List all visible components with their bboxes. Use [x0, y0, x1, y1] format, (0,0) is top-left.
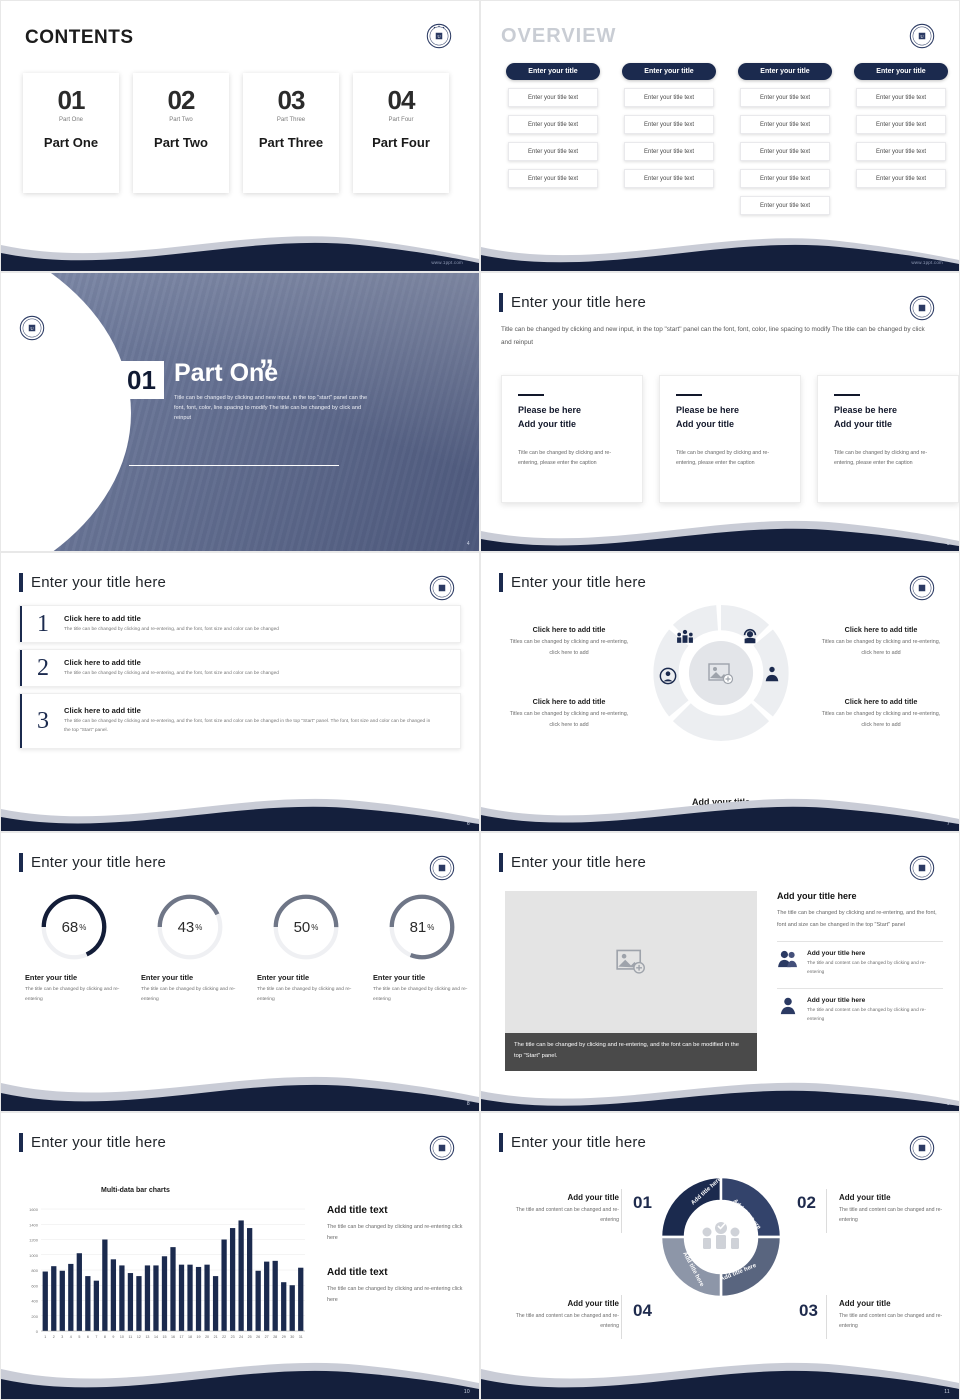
image-placeholder-icon	[616, 949, 646, 975]
page-number: 7	[947, 821, 950, 827]
contents-card[interactable]: 01 Part One Part One	[23, 73, 119, 193]
row-number: 3	[22, 708, 64, 735]
card-number: 03	[278, 85, 305, 116]
university-emblem-icon	[909, 575, 935, 601]
svg-text:1400: 1400	[29, 1222, 39, 1227]
card-title: Part Three	[259, 135, 323, 150]
step-number-01: 01	[633, 1193, 652, 1213]
svg-text:800: 800	[31, 1268, 38, 1273]
step-heading: Add your title	[839, 1193, 955, 1202]
contents-card[interactable]: 02 Part Two Part Two	[133, 73, 229, 193]
donut-body: The title can be changed by clicking and…	[373, 985, 471, 1004]
card-number: 01	[58, 85, 85, 116]
footer-wave-decoration	[481, 785, 959, 831]
page-number: 10	[464, 1389, 470, 1395]
svg-text:22: 22	[222, 1335, 226, 1339]
item-body: The title and content can be changed by …	[807, 1006, 943, 1025]
svg-text:26: 26	[256, 1335, 260, 1339]
title-text: Enter your title here	[31, 854, 166, 871]
overview-item[interactable]: Enter your title text	[508, 142, 598, 161]
footer-url: www.1ppt.com	[431, 260, 463, 265]
note-heading: Add title text	[327, 1205, 467, 1216]
title-accent-bar	[499, 573, 503, 592]
donut-body: The title can be changed by clicking and…	[25, 985, 123, 1004]
step-heading: Add your title	[503, 1193, 619, 1202]
svg-text:25: 25	[248, 1335, 252, 1339]
support-person-icon	[763, 665, 781, 688]
svg-text:19: 19	[197, 1335, 201, 1339]
column-header-pill[interactable]: Enter your title	[506, 63, 600, 80]
step-text: Add your title The title and content can…	[503, 1193, 619, 1225]
divider	[826, 1189, 827, 1233]
svg-text:21: 21	[214, 1335, 218, 1339]
page-title: Enter your title here	[499, 853, 646, 872]
row-heading: Click here to add title	[64, 658, 434, 667]
donut-stat[interactable]: 50% Enter your title The title can be ch…	[257, 891, 355, 1004]
page-number: 6	[467, 821, 470, 827]
overview-item[interactable]: Enter your title text	[856, 142, 946, 161]
section-number: 01	[119, 361, 164, 399]
label-body: Titles can be changed by clicking and re…	[817, 637, 945, 658]
card-heading-line2: Add your title	[676, 419, 734, 429]
step-body: The title and content can be changed and…	[503, 1311, 619, 1331]
label-body: Titles can be changed by clicking and re…	[817, 709, 945, 730]
svg-text:600: 600	[31, 1283, 38, 1288]
group-people-icon	[675, 629, 695, 650]
svg-text:7: 7	[95, 1335, 97, 1339]
column-header-pill[interactable]: Enter your title	[622, 63, 716, 80]
note-body: The title can be changed by clicking and…	[327, 1284, 467, 1307]
overview-item[interactable]: Enter your title text	[856, 115, 946, 134]
university-emblem-icon: U	[909, 23, 935, 49]
svg-text:29: 29	[282, 1335, 286, 1339]
card-body: Title can be changed by clicking and re-…	[676, 448, 784, 469]
svg-text:11: 11	[129, 1335, 133, 1339]
card-body: Title can be changed by clicking and re-…	[518, 448, 626, 469]
svg-text:28: 28	[273, 1335, 277, 1339]
title-text: Enter your title here	[31, 1134, 166, 1151]
donut-body: The title can be changed by clicking and…	[141, 985, 239, 1004]
person-icon	[777, 997, 799, 1025]
title-accent-bar	[19, 573, 23, 592]
overview-item[interactable]: Enter your title text	[740, 169, 830, 188]
svg-text:6: 6	[87, 1335, 89, 1339]
row-number: 1	[22, 611, 64, 638]
chart-title: Multi-data bar charts	[101, 1187, 170, 1194]
user-circle-icon	[659, 667, 677, 690]
contents-card[interactable]: 03 Part Three Part Three	[243, 73, 339, 193]
svg-text:15: 15	[162, 1335, 166, 1339]
quote-mark-icon: ”	[259, 359, 274, 383]
label-heading: Click here to add title	[817, 697, 945, 706]
progress-ring: 68%	[38, 891, 110, 963]
card-body: Title can be changed by clicking and re-…	[834, 448, 942, 469]
card-number: 02	[168, 85, 195, 116]
image-caption: The title can be changed by clicking and…	[505, 1033, 757, 1071]
progress-ring: 43%	[154, 891, 226, 963]
svg-text:1200: 1200	[29, 1238, 39, 1243]
list-item[interactable]: Add your title here The title and conten…	[777, 950, 943, 978]
users-icon	[777, 950, 799, 978]
overview-item[interactable]: Enter your title text	[624, 169, 714, 188]
svg-text:10: 10	[120, 1335, 124, 1339]
card-subtitle: Part Four	[388, 117, 413, 123]
step-text: Add your title The title and content can…	[839, 1193, 955, 1225]
row-number: 2	[22, 655, 64, 682]
card-heading-line1: Please be here	[834, 405, 897, 415]
overview-item[interactable]: Enter your title text	[508, 115, 598, 134]
donut-heading: Enter your title	[25, 973, 123, 982]
overview-column: Enter your title Enter your title text E…	[505, 63, 601, 215]
overview-column: Enter your title Enter your title text E…	[621, 63, 717, 215]
step-number-04: 04	[633, 1301, 652, 1321]
bar-chart: 0200400600800100012001400160012345678910…	[15, 1201, 311, 1347]
page-title: Enter your title here	[19, 853, 166, 872]
footer-wave-decoration	[1, 785, 479, 831]
step-text: Add your title The title and content can…	[503, 1299, 619, 1331]
university-emblem-icon	[429, 1135, 455, 1161]
step-heading: Add your title	[503, 1299, 619, 1308]
divider	[777, 988, 943, 989]
page-number: 5	[947, 541, 950, 547]
divider	[777, 941, 943, 942]
progress-ring: 50%	[270, 891, 342, 963]
contents-card[interactable]: 04 Part Four Part Four	[353, 73, 449, 193]
svg-text:17: 17	[180, 1335, 184, 1339]
overview-item[interactable]: Enter your title text	[856, 169, 946, 188]
segmented-ring-diagram: Add your title	[653, 605, 789, 741]
slide-2-overview[interactable]: OVERVIEW U Enter your title Enter your t…	[480, 0, 960, 272]
item-heading: Add your title here	[807, 997, 943, 1004]
slide-1-contents[interactable]: CONTENTS U 01 Part One Part One 02 Part …	[0, 0, 480, 272]
svg-text:18: 18	[188, 1335, 192, 1339]
divider	[621, 1189, 622, 1233]
page-title: Enter your title here	[499, 1133, 646, 1152]
panel-body: The title can be changed by clicking and…	[777, 908, 943, 931]
overview-item[interactable]: Enter your title text	[740, 196, 830, 215]
slide-thumbnail-grid: CONTENTS U 01 Part One Part One 02 Part …	[0, 0, 960, 1400]
svg-text:24: 24	[239, 1335, 243, 1339]
donut-stat[interactable]: 43% Enter your title The title can be ch…	[141, 891, 239, 1004]
list-item[interactable]: Add your title here The title and conten…	[777, 997, 943, 1025]
svg-text:2: 2	[53, 1335, 55, 1339]
card-dash-decoration	[676, 394, 702, 396]
donut-heading: Enter your title	[141, 973, 239, 982]
column-header-pill[interactable]: Enter your title	[854, 63, 948, 80]
diagram-label: Click here to add title Titles can be ch…	[817, 625, 945, 658]
overview-columns: Enter your title Enter your title text E…	[505, 63, 949, 215]
svg-text:5: 5	[78, 1335, 80, 1339]
step-number-03: 03	[799, 1301, 818, 1321]
step-body: The title and content can be changed and…	[839, 1311, 955, 1331]
page-title: OVERVIEW	[501, 25, 616, 48]
hero-divider	[129, 465, 339, 466]
page-title: Enter your title here	[499, 573, 646, 592]
overview-item[interactable]: Enter your title text	[508, 169, 598, 188]
card-subtitle: Part Two	[169, 117, 193, 123]
title-accent-bar	[19, 853, 23, 872]
step-number-02: 02	[797, 1193, 816, 1213]
panel-heading: Add your title here	[777, 891, 943, 901]
list-item[interactable]: 2 Click here to add title The title can …	[19, 649, 461, 687]
footer-wave-decoration	[481, 1353, 959, 1399]
footer-wave-decoration	[1, 1065, 479, 1111]
label-heading: Click here to add title	[505, 625, 633, 634]
list-item[interactable]: 1 Click here to add title The title can …	[19, 605, 461, 643]
item-body: The title and content can be changed by …	[807, 959, 943, 978]
note-body: The title can be changed by clicking and…	[327, 1222, 467, 1245]
card-heading-line1: Please be here	[676, 405, 739, 415]
donut-stat[interactable]: 68% Enter your title The title can be ch…	[25, 891, 123, 1004]
divider	[621, 1295, 622, 1339]
university-emblem-icon	[429, 575, 455, 601]
diagram-label: Click here to add title Titles can be ch…	[505, 625, 633, 658]
info-card[interactable]: Please be hereAdd your title Title can b…	[817, 375, 959, 503]
university-emblem-icon: U	[426, 23, 452, 49]
university-emblem-icon: U	[19, 315, 45, 341]
card-heading-line2: Add your title	[834, 419, 892, 429]
svg-text:30: 30	[290, 1335, 294, 1339]
overview-column: Enter your title Enter your title text E…	[853, 63, 949, 215]
card-subtitle: Part Three	[277, 117, 305, 123]
donut-heading: Enter your title	[257, 973, 355, 982]
page-title: Enter your title here	[19, 573, 166, 592]
four-step-cycle: Add title here Add title here Add title …	[649, 1161, 793, 1313]
svg-text:12: 12	[137, 1335, 141, 1339]
svg-text:4: 4	[70, 1335, 72, 1339]
svg-text:16: 16	[171, 1335, 175, 1339]
card-subtitle: Part One	[59, 117, 83, 123]
diagram-caption: Add your title	[653, 797, 789, 807]
university-emblem-icon	[909, 1135, 935, 1161]
donut-stat[interactable]: 81% Enter your title The title can be ch…	[373, 891, 471, 1004]
slide-6-circular-diagram[interactable]: Enter your title here	[480, 552, 960, 832]
chart-notes: Add title text The title can be changed …	[327, 1205, 467, 1306]
donut-value: 50%	[270, 891, 342, 963]
page-title: Enter your title here	[19, 1133, 166, 1152]
donut-body: The title can be changed by clicking and…	[257, 985, 355, 1004]
contents-card-list: 01 Part One Part One 02 Part Two Part Tw…	[23, 73, 449, 193]
title-accent-bar	[499, 293, 503, 312]
page-number: 8	[467, 1101, 470, 1107]
card-list: Please be hereAdd your title Title can b…	[501, 375, 959, 503]
slide-8-image-and-list[interactable]: Enter your title here The title can be c…	[480, 832, 960, 1112]
card-heading-line2: Add your title	[518, 419, 576, 429]
overview-item[interactable]: Enter your title text	[740, 115, 830, 134]
overview-item[interactable]: Enter your title text	[856, 88, 946, 107]
label-body: Titles can be changed by clicking and re…	[505, 709, 633, 730]
row-heading: Click here to add title	[64, 614, 434, 623]
svg-text:1: 1	[44, 1335, 46, 1339]
row-heading: Click here to add title	[64, 706, 434, 715]
slide-7-percentage-donuts[interactable]: Enter your title here 68% Enter your tit…	[0, 832, 480, 1112]
hero-content: 01 Part One Title can be changed by clic…	[119, 361, 379, 423]
card-title: Part Four	[372, 135, 430, 150]
slide-10-cycle-diagram[interactable]: Enter your title here Add	[480, 1112, 960, 1400]
row-body: The title can be changed by clicking and…	[64, 670, 434, 679]
note-heading: Add title text	[327, 1267, 467, 1278]
slide-5-numbered-list[interactable]: Enter your title here 1 Click here to ad…	[0, 552, 480, 832]
image-placeholder[interactable]	[505, 891, 757, 1033]
title-text: Enter your title here	[511, 1134, 646, 1151]
item-heading: Add your title here	[807, 950, 943, 957]
step-heading: Add your title	[839, 1299, 955, 1308]
row-body: The title can be changed by clicking and…	[64, 626, 434, 635]
title-accent-bar	[19, 1133, 23, 1152]
overview-item[interactable]: Enter your title text	[508, 88, 598, 107]
footer-wave-decoration	[481, 1065, 959, 1111]
section-description: Title can be changed by clicking and new…	[174, 393, 379, 423]
svg-text:200: 200	[31, 1314, 38, 1319]
note-block: Add title text The title can be changed …	[327, 1205, 467, 1245]
diagram-label: Click here to add title Titles can be ch…	[505, 697, 633, 730]
title-text: Enter your title here	[511, 294, 646, 311]
card-title: Part One	[44, 135, 98, 150]
university-emblem-icon	[909, 855, 935, 881]
overview-item[interactable]: Enter your title text	[624, 88, 714, 107]
intro-paragraph: Title can be changed by clicking and new…	[501, 323, 931, 350]
image-placeholder-icon	[708, 663, 734, 690]
step-body: The title and content can be changed and…	[503, 1205, 619, 1225]
footer-wave-decoration	[481, 505, 959, 551]
slide-4-three-cards[interactable]: Enter your title here Title can be chang…	[480, 272, 960, 552]
note-block: Add title text The title can be changed …	[327, 1267, 467, 1307]
page-number: 11	[944, 1389, 950, 1395]
section-title: Part One	[174, 361, 379, 386]
overview-item[interactable]: Enter your title text	[740, 88, 830, 107]
university-emblem-icon	[429, 855, 455, 881]
footer-wave-decoration	[481, 225, 959, 271]
footer-wave-decoration	[1, 1353, 479, 1399]
row-body: The title can be changed by clicking and…	[64, 718, 434, 735]
page-number: 9	[947, 1101, 950, 1107]
info-card[interactable]: Please be hereAdd your title Title can b…	[501, 375, 643, 503]
diagram-label: Click here to add title Titles can be ch…	[817, 697, 945, 730]
card-dash-decoration	[834, 394, 860, 396]
slide-9-bar-chart[interactable]: Enter your title here Multi-data bar cha…	[0, 1112, 480, 1400]
step-body: The title and content can be changed and…	[839, 1205, 955, 1225]
progress-ring: 81%	[386, 891, 458, 963]
card-dash-decoration	[518, 394, 544, 396]
title-accent-bar	[499, 1133, 503, 1152]
donut-value: 81%	[386, 891, 458, 963]
page-number: 4	[467, 541, 470, 547]
overview-item[interactable]: Enter your title text	[624, 142, 714, 161]
info-card[interactable]: Please be hereAdd your title Title can b…	[659, 375, 801, 503]
svg-text:1600: 1600	[29, 1207, 39, 1212]
title-text: Enter your title here	[31, 574, 166, 591]
overview-column: Enter your title Enter your title text E…	[737, 63, 833, 215]
svg-text:14: 14	[154, 1335, 158, 1339]
svg-text:400: 400	[31, 1299, 38, 1304]
detail-panel: Add your title here The title can be cha…	[777, 891, 943, 1033]
svg-text:1000: 1000	[29, 1253, 39, 1258]
donut-stat-list: 68% Enter your title The title can be ch…	[25, 891, 471, 1004]
page-title: CONTENTS	[25, 27, 134, 49]
svg-text:8: 8	[104, 1335, 106, 1339]
svg-text:20: 20	[205, 1335, 209, 1339]
donut-value: 43%	[154, 891, 226, 963]
overview-item[interactable]: Enter your title text	[624, 115, 714, 134]
label-heading: Click here to add title	[817, 625, 945, 634]
footer-wave-decoration	[1, 225, 479, 271]
svg-text:31: 31	[299, 1335, 303, 1339]
svg-text:3: 3	[61, 1335, 63, 1339]
svg-text:9: 9	[112, 1335, 114, 1339]
footer-url: www.1ppt.com	[911, 260, 943, 265]
label-heading: Click here to add title	[505, 697, 633, 706]
title-accent-bar	[499, 853, 503, 872]
svg-text:27: 27	[265, 1335, 269, 1339]
divider	[826, 1295, 827, 1339]
card-heading-line1: Please be here	[518, 405, 581, 415]
svg-text:13: 13	[145, 1335, 149, 1339]
overview-item[interactable]: Enter your title text	[740, 142, 830, 161]
svg-text:23: 23	[231, 1335, 235, 1339]
donut-value: 68%	[38, 891, 110, 963]
label-body: Titles can be changed by clicking and re…	[505, 637, 633, 658]
svg-text:0: 0	[36, 1329, 39, 1334]
university-emblem-icon	[909, 295, 935, 321]
slide-3-section-part-one[interactable]: U 01 Part One Title can be changed by cl…	[0, 272, 480, 552]
list-item[interactable]: 3 Click here to add title The title can …	[19, 693, 461, 749]
card-number: 04	[388, 85, 415, 116]
title-text: Enter your title here	[511, 854, 646, 871]
donut-heading: Enter your title	[373, 973, 471, 982]
step-text: Add your title The title and content can…	[839, 1299, 955, 1331]
person-headset-icon	[741, 627, 759, 650]
title-text: Enter your title here	[511, 574, 646, 591]
card-title: Part Two	[154, 135, 208, 150]
page-title: Enter your title here	[499, 293, 646, 312]
column-header-pill[interactable]: Enter your title	[738, 63, 832, 80]
